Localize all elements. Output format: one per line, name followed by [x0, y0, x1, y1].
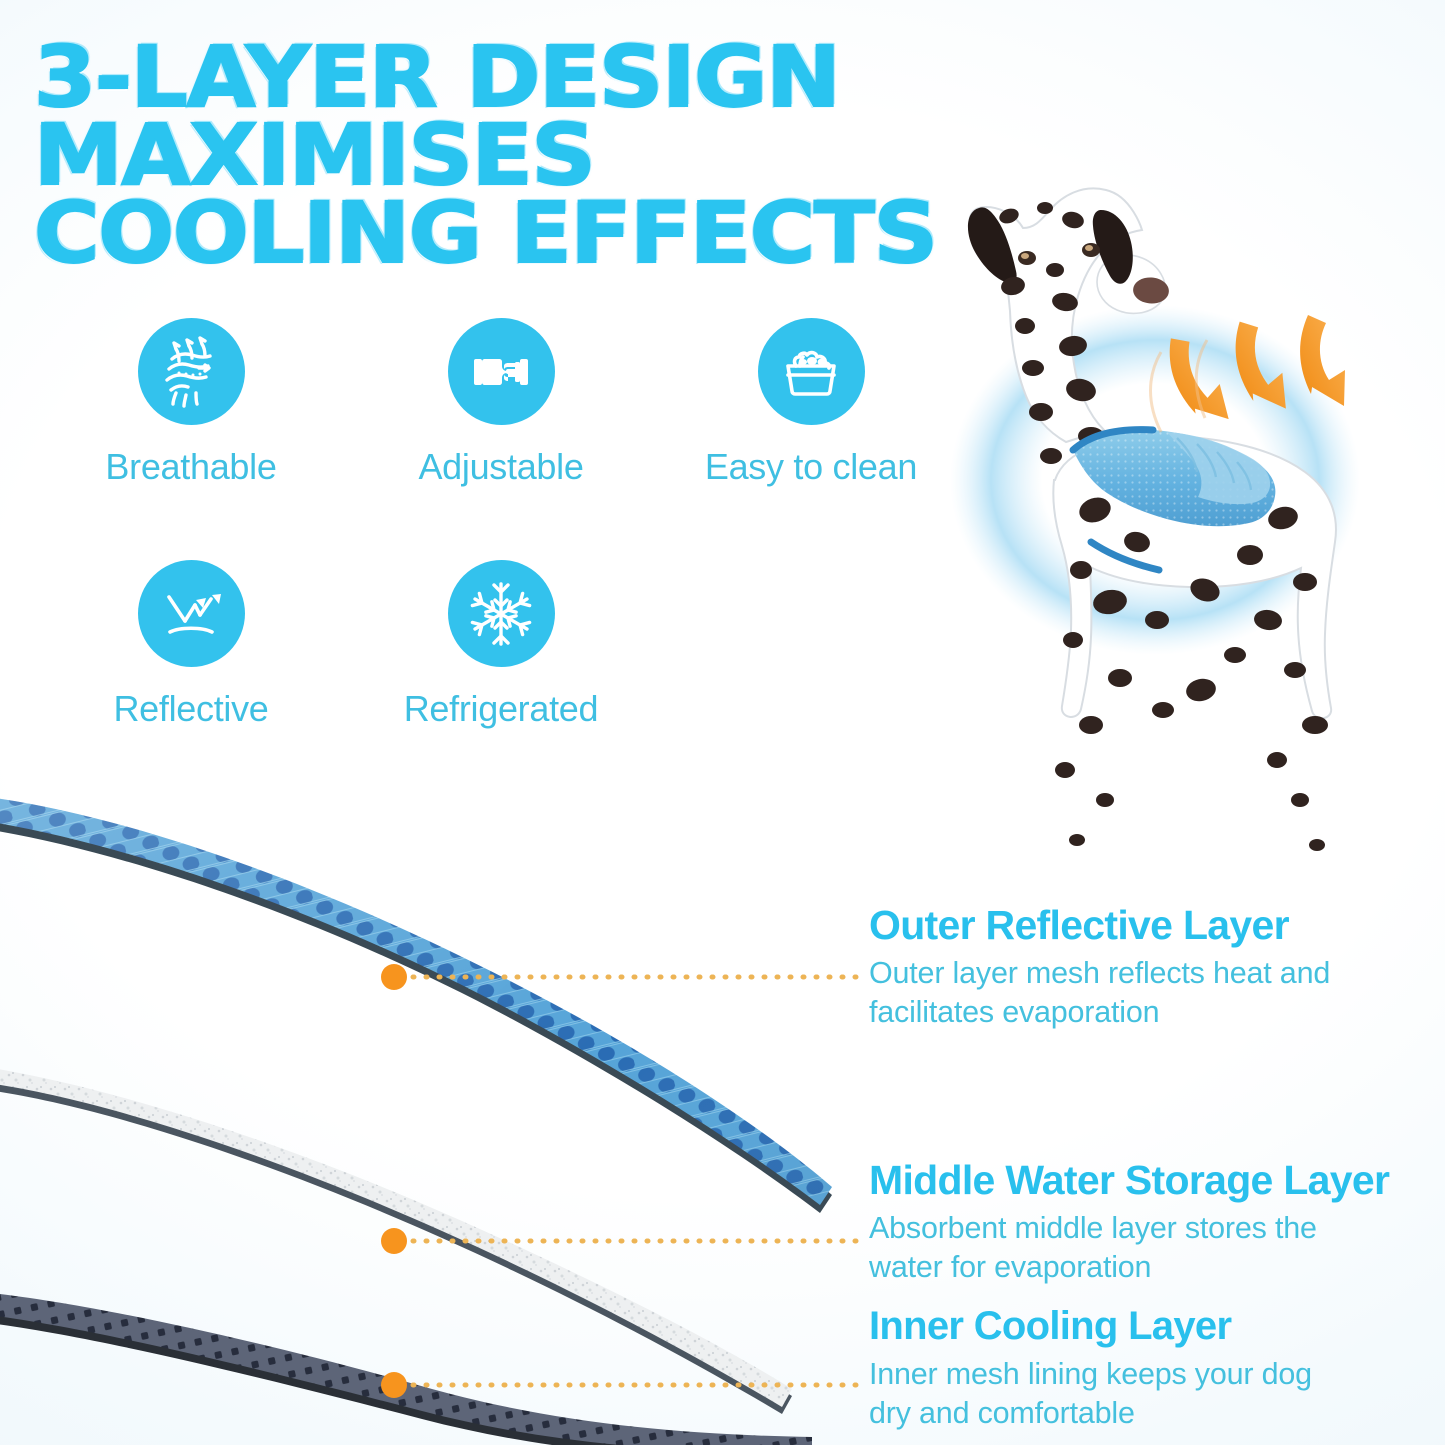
reflected-rays-icon	[138, 560, 245, 667]
callout-body: Inner mesh lining keeps your dog dry and…	[869, 1355, 1339, 1433]
feature-label: Easy to clean	[705, 446, 917, 488]
callout-body: Outer layer mesh reflects heat and facil…	[869, 954, 1339, 1032]
product-infographic: 3-LAYER DESIGN MAXIMISES COOLING EFFECTS	[0, 0, 1445, 1445]
callout-title: Middle Water Storage Layer	[869, 1158, 1389, 1202]
feature-adjustable: Adjustable	[346, 318, 656, 488]
feature-row-2: Reflective	[36, 560, 966, 730]
headline-line-1: 3-LAYER DESIGN MAXIMISES	[34, 28, 840, 204]
feature-refrigerated: Refrigerated	[346, 560, 656, 730]
feature-grid: Breathable	[36, 318, 966, 730]
feature-label: Reflective	[113, 688, 268, 730]
wash-basin-suds-icon	[758, 318, 865, 425]
feature-breathable: Breathable	[36, 318, 346, 488]
callout-body: Absorbent middle layer stores the water …	[869, 1209, 1339, 1287]
callout-title: Outer Reflective Layer	[869, 903, 1339, 947]
callout-outer-layer: Outer Reflective Layer Outer layer mesh …	[869, 903, 1339, 1032]
callout-middle-layer: Middle Water Storage Layer Absorbent mid…	[869, 1158, 1389, 1287]
feature-row-1: Breathable	[36, 318, 966, 488]
feature-reflective: Reflective	[36, 560, 346, 730]
callout-title: Inner Cooling Layer	[869, 1305, 1339, 1348]
breathable-fabric-airflow-icon	[138, 318, 245, 425]
product-photo-dog-in-vest	[905, 150, 1445, 890]
snowflake-icon	[448, 560, 555, 667]
buckle-clip-icon	[448, 318, 555, 425]
layer-stack-diagram	[0, 735, 872, 1445]
feature-label: Adjustable	[418, 446, 583, 488]
feature-label: Refrigerated	[404, 688, 599, 730]
feature-label: Breathable	[105, 446, 276, 488]
layer-shape-inner	[0, 1291, 812, 1445]
callout-inner-layer: Inner Cooling Layer Inner mesh lining ke…	[869, 1305, 1339, 1433]
